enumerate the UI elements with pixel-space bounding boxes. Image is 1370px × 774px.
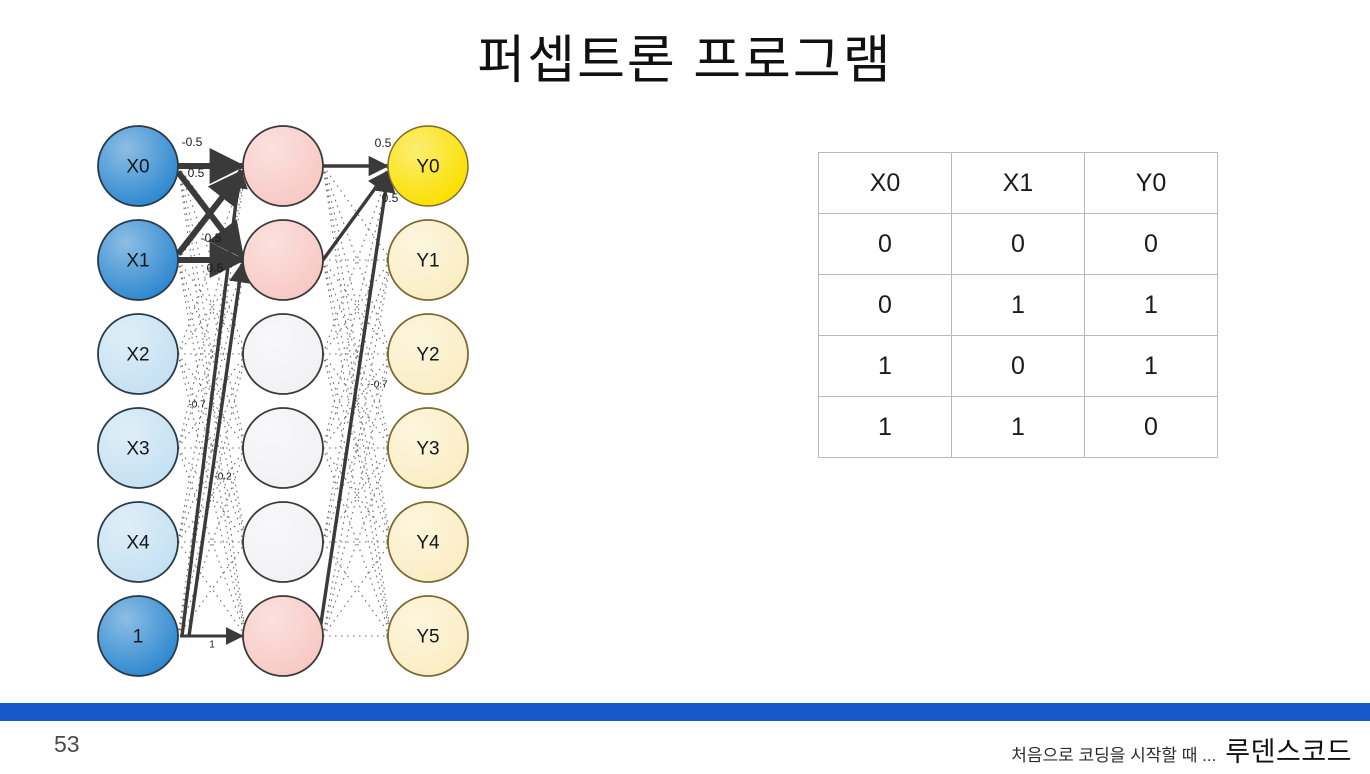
input-node-X1[interactable]: X1: [98, 220, 178, 300]
output-node-Y5[interactable]: Y5: [388, 596, 468, 676]
cell-x1: 0: [952, 214, 1085, 275]
hidden-node-2[interactable]: [243, 314, 323, 394]
output-node-Y2-gloss: [389, 315, 467, 393]
weight-h0-y0: 0.5: [375, 136, 392, 150]
output-node-Y3[interactable]: Y3: [388, 408, 468, 488]
edges-hidden-output-weak: [323, 166, 391, 636]
cell-x1: 0: [952, 336, 1085, 397]
table-row: 1 0 1: [819, 336, 1218, 397]
hidden-node-5[interactable]: [243, 596, 323, 676]
table-header-x0: X0: [819, 153, 952, 214]
input-node-X0-gloss: [99, 127, 177, 205]
input-node-X2[interactable]: X2: [98, 314, 178, 394]
output-node-Y1-gloss: [389, 221, 467, 299]
weight-x0-h0: -0.5: [182, 135, 203, 149]
input-node-X4[interactable]: X4: [98, 502, 178, 582]
cell-y0: 0: [1085, 214, 1218, 275]
input-node-1-gloss: [99, 597, 177, 675]
output-node-Y0[interactable]: Y0: [388, 126, 468, 206]
table-row: 0 0 0: [819, 214, 1218, 275]
weight-x1-h0: -0.5: [201, 231, 222, 245]
cell-x0: 1: [819, 336, 952, 397]
cell-y0: 1: [1085, 336, 1218, 397]
footer-brand: 처음으로 코딩을 시작할 때 ... 루덴스코드: [1011, 730, 1352, 769]
table-header-row: X0 X1 Y0: [819, 153, 1218, 214]
input-node-X4-gloss: [99, 503, 177, 581]
footer-accent-bar: [0, 703, 1370, 721]
cell-y0: 0: [1085, 397, 1218, 458]
weight-bias-hidden: 1: [209, 640, 215, 651]
hidden-node-3-gloss: [244, 409, 322, 487]
hidden-node-5-gloss: [244, 597, 322, 675]
input-node-X2-gloss: [99, 315, 177, 393]
cell-y0: 1: [1085, 275, 1218, 336]
output-node-Y4[interactable]: Y4: [388, 502, 468, 582]
cell-x0: 1: [819, 397, 952, 458]
cell-x1: 1: [952, 397, 1085, 458]
hidden-node-1[interactable]: [243, 220, 323, 300]
weight-bias-h0: -0.7: [188, 400, 206, 411]
output-node-Y1[interactable]: Y1: [388, 220, 468, 300]
hidden-node-4[interactable]: [243, 502, 323, 582]
network-nodes: X0X1X2X3X41Y0Y1Y2Y3Y4Y5: [98, 126, 468, 676]
table-header-y0: Y0: [1085, 153, 1218, 214]
input-node-X3-gloss: [99, 409, 177, 487]
table-row: 1 1 0: [819, 397, 1218, 458]
table-row: 0 1 1: [819, 275, 1218, 336]
xor-truth-table: X0 X1 Y0 0 0 0 0 1 1 1 0 1 1 1: [818, 152, 1218, 458]
output-node-Y0-gloss: [389, 127, 467, 205]
output-node-Y3-gloss: [389, 409, 467, 487]
input-node-X1-gloss: [99, 221, 177, 299]
hidden-node-4-gloss: [244, 503, 322, 581]
footer-tagline: 처음으로 코딩을 시작할 때 ...: [1011, 741, 1216, 766]
input-node-1[interactable]: 1: [98, 596, 178, 676]
perceptron-network-diagram: X0X1X2X3X41Y0Y1Y2Y3Y4Y5 -0.50.5-0.50.50.…: [70, 110, 540, 690]
truth-table-container: X0 X1 Y0 0 0 0 0 1 1 1 0 1 1 1: [818, 152, 1218, 458]
table-header-x1: X1: [952, 153, 1085, 214]
input-node-X0[interactable]: X0: [98, 126, 178, 206]
hidden-node-0[interactable]: [243, 126, 323, 206]
input-node-X3[interactable]: X3: [98, 408, 178, 488]
output-node-Y2[interactable]: Y2: [388, 314, 468, 394]
network-svg: X0X1X2X3X41Y0Y1Y2Y3Y4Y5 -0.50.5-0.50.50.…: [70, 110, 540, 690]
hidden-node-1-gloss: [244, 221, 322, 299]
hidden-node-3[interactable]: [243, 408, 323, 488]
output-node-Y4-gloss: [389, 503, 467, 581]
hidden-node-0-gloss: [244, 127, 322, 205]
cell-x1: 1: [952, 275, 1085, 336]
edge-bias-h1: [189, 264, 242, 636]
page-number: 53: [54, 731, 80, 758]
output-node-Y5-gloss: [389, 597, 467, 675]
cell-x0: 0: [819, 275, 952, 336]
page-title: 퍼셉트론 프로그램: [0, 18, 1370, 93]
footer-logo: 루덴스코드: [1225, 730, 1352, 769]
weight-h5-y0: -0.7: [370, 380, 388, 391]
hidden-node-2-gloss: [244, 315, 322, 393]
cell-x0: 0: [819, 214, 952, 275]
